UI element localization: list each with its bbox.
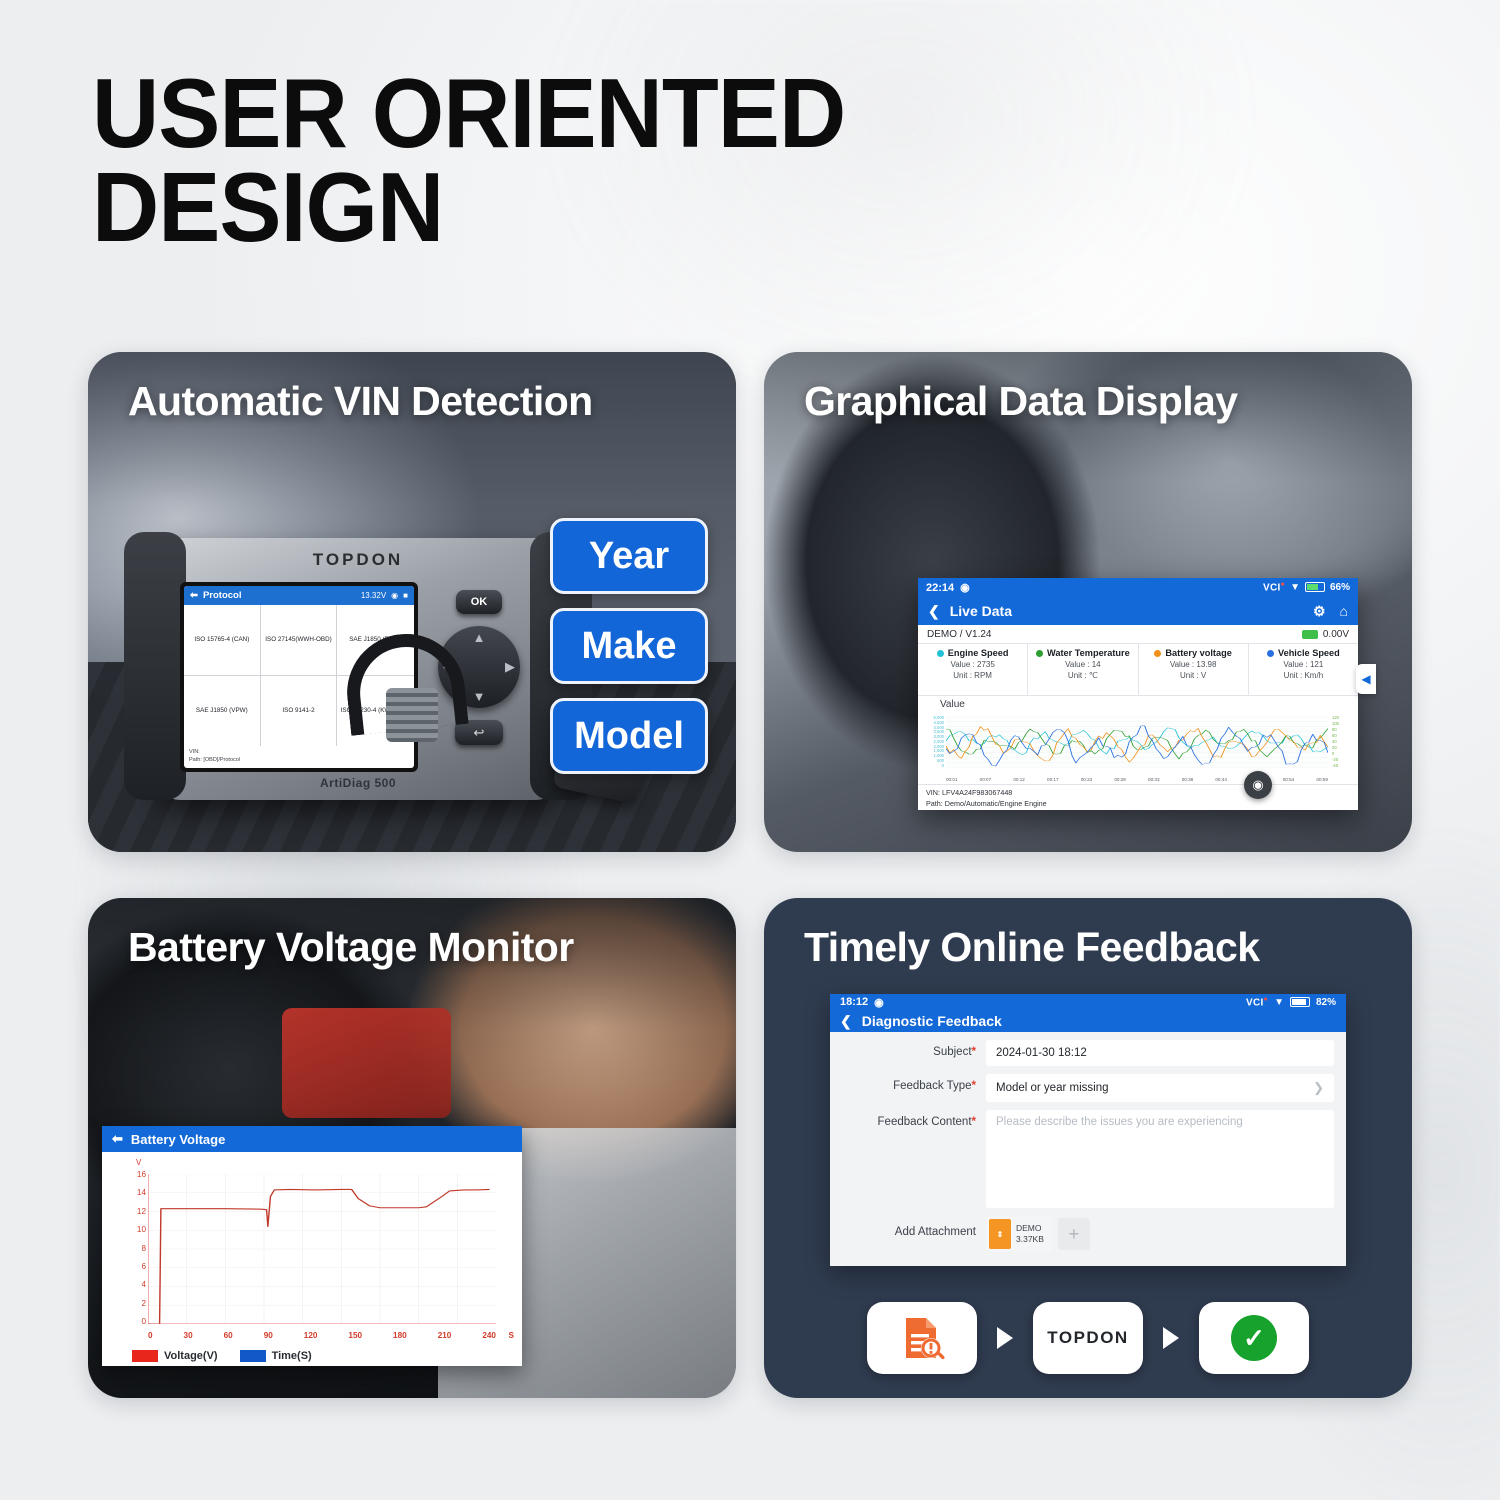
flow-step-resolved: ✓ — [1199, 1302, 1309, 1374]
legend-time: Time(S) — [240, 1350, 312, 1362]
feedback-status-bar: 18:12 ◉ VCI● ▼ 82% — [830, 994, 1346, 1011]
live-data-chart: 5,0004,5004,0003,5003,0002,5002,0001,500… — [946, 716, 1328, 768]
feedback-nav-bar: ❮ Diagnostic Feedback — [830, 1011, 1346, 1032]
attachment-size: 3.37KB — [1016, 1234, 1044, 1245]
live-data-chart-area: Value 5,0004,5004,0003,5003,0002,5002,00… — [918, 696, 1358, 784]
flow-arrow-icon — [997, 1327, 1013, 1349]
battery-y-unit: V — [136, 1158, 141, 1167]
tablet-nav-bar: ❮ Live Data ⚙ ⌂ — [918, 597, 1358, 625]
screen-voltage: 13.32V — [361, 591, 386, 600]
tablet-status-bar: 22:14 ◉ VCI● ▼ 66% — [918, 578, 1358, 597]
protocol-cell[interactable]: ISO 15765-4 (CAN) — [184, 605, 261, 676]
series-value: Value : 2735 — [920, 660, 1025, 669]
axis-tick: 0 — [920, 764, 944, 768]
axis-tick: 6 — [120, 1262, 146, 1271]
axis-tick: 120 — [1332, 716, 1356, 720]
tablet-live-data: 22:14 ◉ VCI● ▼ 66% ❮ Live Data ⚙ ⌂ DEMO … — [918, 578, 1358, 810]
voltage-readout: 0.00V — [1302, 629, 1349, 640]
vin-readout: VIN: LFV4A24F983067448 — [926, 787, 1350, 798]
nav-title: Live Data — [950, 603, 1012, 619]
live-data-card[interactable]: Battery voltage Value : 13.98 Unit : V — [1139, 644, 1249, 695]
badge-year: Year — [550, 518, 708, 594]
battery-chart-plot — [148, 1174, 496, 1324]
axis-tick: 80 — [1332, 728, 1356, 732]
feedback-type-select[interactable]: Model or year missing❯ — [986, 1074, 1334, 1102]
back-arrow-icon[interactable]: ⬅ — [112, 1131, 123, 1147]
field-subject: Subject* 2024-01-30 18:12 — [836, 1040, 1334, 1066]
live-data-card[interactable]: Engine Speed Value : 2735 Unit : RPM — [918, 644, 1028, 695]
axis-tick: -40 — [1332, 764, 1356, 768]
green-check-icon: ✓ — [1231, 1315, 1277, 1361]
device-brand: TOPDON — [158, 550, 558, 570]
chart-axis-label: Value — [940, 699, 1352, 710]
battery-voltage-screen: ⬅ Battery Voltage V 1614121086420 030609… — [102, 1126, 522, 1366]
camera-icon[interactable]: ◉ — [1244, 771, 1272, 799]
feedback-flow-diagram: TOPDON ✓ — [764, 1302, 1412, 1374]
flow-step-report — [867, 1302, 977, 1374]
live-data-card[interactable]: Water Temperature Value : 14 Unit : ℃ — [1028, 644, 1138, 695]
chevron-right-icon: ❯ — [1313, 1080, 1324, 1096]
series-value: Value : 13.98 — [1141, 660, 1246, 669]
protocol-cell[interactable]: ISO 9141-2 — [261, 676, 338, 747]
panel-timely-online-feedback: Timely Online Feedback 18:12 ◉ VCI● ▼ 82… — [764, 898, 1412, 1398]
series-name: Vehicle Speed — [1278, 648, 1340, 658]
series-color-dot — [937, 650, 944, 657]
screen-titlebar: ⬅ Protocol 13.32V ◉ ■ — [184, 586, 414, 605]
series-unit: Unit : ℃ — [1030, 671, 1135, 680]
add-attachment-button[interactable]: + — [1058, 1218, 1090, 1250]
field-label: Subject* — [836, 1040, 986, 1058]
axis-tick: 0 — [148, 1331, 153, 1340]
axis-tick: 00:33 — [1148, 777, 1160, 782]
live-data-plot — [946, 716, 1328, 768]
axis-tick: 0 — [1332, 752, 1356, 756]
field-label: Add Attachment — [836, 1216, 986, 1238]
demo-version-label: DEMO / V1.24 — [927, 629, 991, 640]
axis-tick: 2 — [120, 1299, 146, 1308]
panel-graphical-data-display: Graphical Data Display 22:14 ◉ VCI● ▼ 66… — [764, 352, 1412, 852]
axis-tick: 8 — [120, 1244, 146, 1253]
tablet-subbar: DEMO / V1.24 0.00V — [918, 625, 1358, 644]
field-add-attachment: Add Attachment ⇕ DEMO 3.37KB + — [836, 1216, 1334, 1252]
axis-tick: 100 — [1332, 722, 1356, 726]
alarm-icon: ◉ — [960, 581, 970, 594]
path-readout: Path: Demo/Automatic/Engine Engine — [926, 798, 1350, 809]
vin-badges: Year Make Model — [550, 518, 708, 774]
vci-indicator: VCI● — [1246, 996, 1268, 1008]
battery-screen-title: Battery Voltage — [131, 1132, 225, 1147]
series-name: Water Temperature — [1047, 648, 1130, 658]
live-data-card[interactable]: Vehicle Speed Value : 121 Unit : Km/h — [1249, 644, 1358, 695]
axis-tick: 0 — [120, 1317, 146, 1326]
axis-tick: 240 — [482, 1331, 496, 1340]
screen-status: 13.32V ◉ ■ — [361, 591, 408, 600]
battery-y-axis: 1614121086420 — [120, 1170, 146, 1326]
attachment-name: DEMO — [1016, 1223, 1044, 1234]
flow-step-topdon: TOPDON — [1033, 1302, 1143, 1374]
battery-screen-titlebar: ⬅ Battery Voltage — [102, 1126, 522, 1152]
axis-tick: 00:07 — [980, 777, 992, 782]
axis-tick: 60 — [1332, 734, 1356, 738]
attachment-list: ⇕ DEMO 3.37KB + — [986, 1216, 1090, 1252]
battery-x-axis: 0306090120150180210240 — [148, 1331, 496, 1340]
status-time: 22:14 — [926, 582, 954, 594]
axis-tick: 210 — [438, 1331, 452, 1340]
refresh-icon: ◉ — [391, 591, 398, 600]
back-arrow-icon[interactable]: ⬅ — [190, 590, 198, 601]
attachment-item[interactable]: ⇕ DEMO 3.37KB — [986, 1216, 1052, 1252]
page-title: USER ORIENTED DESIGN — [92, 66, 1156, 254]
panel-battery-voltage-monitor: Battery Voltage Monitor ⬅ Battery Voltag… — [88, 898, 736, 1398]
screen-vin-line: VIN: — [189, 748, 409, 756]
chart-y-axis-left: 5,0004,5004,0003,5003,0002,5002,0001,500… — [920, 716, 944, 768]
axis-tick: 00:12 — [1013, 777, 1025, 782]
battery-icon: ■ — [403, 591, 408, 600]
axis-tick: 00:28 — [1114, 777, 1126, 782]
page-title-line2: DESIGN — [92, 160, 1156, 254]
axis-tick: 00:54 — [1283, 777, 1295, 782]
battery-icon — [1305, 582, 1325, 592]
axis-tick: 00:01 — [946, 777, 958, 782]
panel-graphical-title: Graphical Data Display — [804, 378, 1237, 425]
axis-tick: 4 — [120, 1280, 146, 1289]
subject-input[interactable]: 2024-01-30 18:12 — [986, 1040, 1334, 1066]
feedback-content-textarea[interactable]: Please describe the issues you are exper… — [986, 1110, 1334, 1208]
arrow-up-icon[interactable]: ▲ — [473, 630, 486, 645]
chart-y-axis-right: 120100806040200-20-40 — [1332, 716, 1356, 768]
field-feedback-type: Feedback Type* Model or year missing❯ — [836, 1074, 1334, 1102]
battery-percent: 66% — [1330, 582, 1350, 593]
nav-title: Diagnostic Feedback — [862, 1013, 1002, 1029]
feedback-form: Subject* 2024-01-30 18:12 Feedback Type*… — [830, 1032, 1346, 1266]
axis-tick: 16 — [120, 1170, 146, 1179]
field-feedback-content: Feedback Content* Please describe the is… — [836, 1110, 1334, 1208]
battery-x-unit: S — [509, 1331, 514, 1340]
back-chevron-icon[interactable]: ❮ — [840, 1013, 852, 1030]
series-color-dot — [1036, 650, 1043, 657]
home-icon[interactable]: ⌂ — [1340, 603, 1348, 620]
back-chevron-icon[interactable]: ❮ — [928, 603, 940, 620]
axis-tick: 14 — [120, 1188, 146, 1197]
axis-tick: 90 — [264, 1331, 273, 1340]
axis-tick: -20 — [1332, 758, 1356, 762]
axis-tick: 180 — [393, 1331, 407, 1340]
ok-button[interactable]: OK — [456, 590, 502, 614]
toolbox-icon[interactable]: ⚙ — [1313, 603, 1326, 620]
live-data-cards: Engine Speed Value : 2735 Unit : RPM Wat… — [918, 644, 1358, 696]
axis-tick: 00:59 — [1316, 777, 1328, 782]
axis-tick: 10 — [120, 1225, 146, 1234]
protocol-cell[interactable]: ISO 27145(WWH-OBD) — [261, 605, 338, 676]
axis-tick: 20 — [1332, 746, 1356, 750]
device-grip-left — [124, 532, 186, 800]
axis-tick: 12 — [120, 1207, 146, 1216]
badge-model: Model — [550, 698, 708, 774]
series-value: Value : 14 — [1030, 660, 1135, 669]
arrow-right-icon[interactable]: ▶ — [505, 659, 515, 675]
axis-tick: 150 — [348, 1331, 362, 1340]
field-label: Feedback Type* — [836, 1074, 986, 1092]
wifi-icon: ▼ — [1274, 997, 1284, 1008]
vci-indicator: VCI● — [1263, 581, 1285, 593]
field-label: Feedback Content* — [836, 1110, 986, 1128]
battery-chart-legend: Voltage(V) Time(S) — [132, 1350, 312, 1362]
axis-tick: 00:17 — [1047, 777, 1059, 782]
arrow-down-icon[interactable]: ▼ — [473, 689, 486, 704]
battery-icon — [1290, 997, 1310, 1007]
collapse-arrow-icon[interactable]: ◀ — [1356, 664, 1376, 694]
badge-make: Make — [550, 608, 708, 684]
screen-title: Protocol — [203, 590, 242, 601]
wifi-icon: ▼ — [1290, 582, 1300, 593]
battery-percent: 82% — [1316, 997, 1336, 1008]
flow-arrow-icon — [1163, 1327, 1179, 1349]
panel-battery-title: Battery Voltage Monitor — [128, 924, 574, 971]
alarm-icon: ◉ — [874, 996, 884, 1009]
series-unit: Unit : RPM — [920, 671, 1025, 680]
axis-tick: 120 — [304, 1331, 318, 1340]
axis-tick: 500 — [920, 759, 944, 763]
scanner-device: TOPDON ⬅ Protocol 13.32V ◉ ■ ISO 15765-4… — [158, 538, 558, 800]
axis-tick: 00:38 — [1182, 777, 1194, 782]
topdon-logo: TOPDON — [1047, 1328, 1128, 1348]
series-unit: Unit : V — [1141, 671, 1246, 680]
report-issue-icon — [896, 1312, 948, 1364]
feedback-screen: 18:12 ◉ VCI● ▼ 82% ❮ Diagnostic Feedback… — [830, 994, 1346, 1266]
zip-file-icon: ⇕ — [989, 1219, 1011, 1249]
axis-tick: 30 — [184, 1331, 193, 1340]
panel-feedback-title: Timely Online Feedback — [804, 924, 1259, 971]
panel-vin-title: Automatic VIN Detection — [128, 378, 593, 425]
axis-tick: 00:23 — [1081, 777, 1093, 782]
page-title-line1: USER ORIENTED — [92, 66, 1156, 160]
battery-chart-body: V 1614121086420 0306090120150180210240 S… — [102, 1152, 522, 1366]
axis-tick: 40 — [1332, 740, 1356, 744]
series-unit: Unit : Km/h — [1251, 671, 1356, 680]
legend-voltage: Voltage(V) — [132, 1350, 218, 1362]
panel-automatic-vin-detection: Automatic VIN Detection TOPDON ⬅ Protoco… — [88, 352, 736, 852]
series-value: Value : 121 — [1251, 660, 1356, 669]
screen-path-line: Path: [OBD]/Protocol — [189, 756, 409, 764]
axis-tick: 60 — [224, 1331, 233, 1340]
screen-footer: VIN: Path: [OBD]/Protocol — [184, 746, 414, 768]
series-color-dot — [1267, 650, 1274, 657]
device-model-label: ArtiDiag 500 — [158, 776, 558, 790]
protocol-cell[interactable]: SAE J1850 (VPW) — [184, 676, 261, 747]
series-color-dot — [1154, 650, 1161, 657]
series-name: Battery voltage — [1165, 648, 1231, 658]
status-time: 18:12 — [840, 996, 868, 1008]
series-name: Engine Speed — [948, 648, 1009, 658]
tablet-footer: VIN: LFV4A24F983067448 Path: Demo/Automa… — [918, 784, 1358, 810]
obd-cable-plug — [386, 688, 438, 742]
axis-tick: 00:44 — [1215, 777, 1227, 782]
